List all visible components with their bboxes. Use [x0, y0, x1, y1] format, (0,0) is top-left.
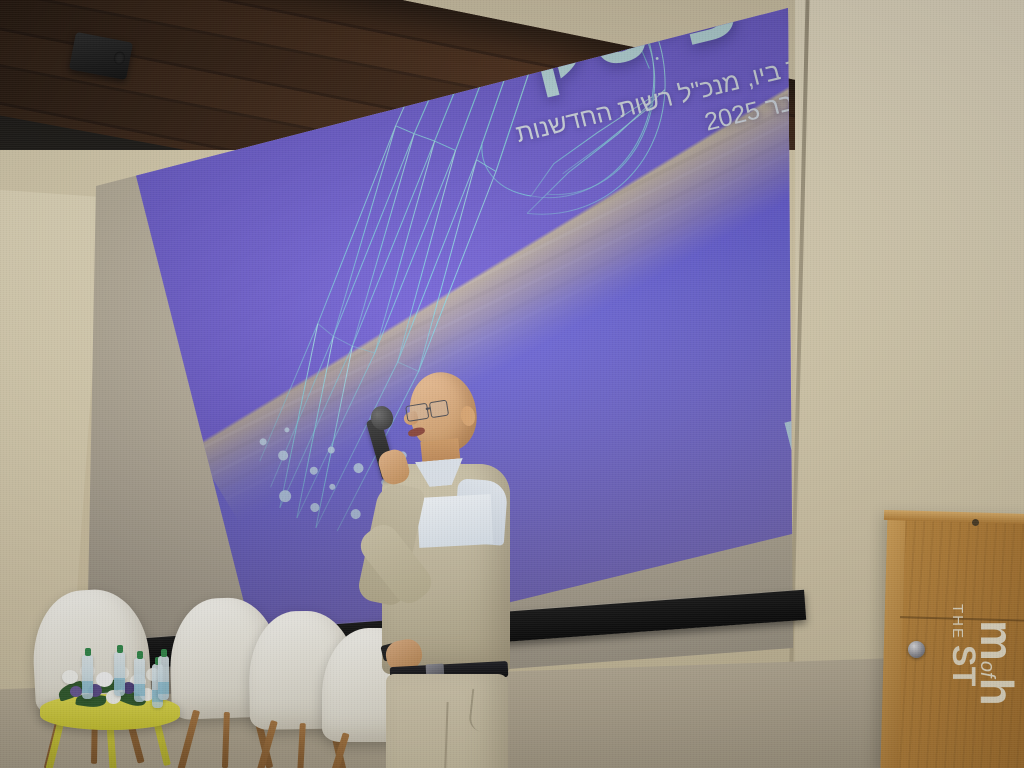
trouser-pocket	[468, 689, 500, 734]
podium-sign-h: h	[971, 678, 1023, 706]
podium-sign-m: m	[971, 620, 1023, 661]
bouquet-flower	[62, 670, 78, 684]
glasses-lens-left	[405, 403, 429, 422]
shirt-chest-panel	[417, 494, 494, 548]
conference-hall-photo: רשות החדשנות Israel Innovation Authority…	[0, 0, 1024, 768]
list-item	[82, 655, 93, 699]
bouquet-flower-accent	[70, 686, 82, 697]
podium-screw	[972, 519, 979, 526]
podium-sign-of: of	[976, 661, 998, 678]
list-item	[158, 656, 169, 700]
list-item	[134, 658, 145, 702]
podium-sign-line2: mofh	[950, 620, 1020, 768]
speaker-person	[360, 372, 540, 768]
glasses-lens-right	[429, 400, 449, 419]
list-item	[114, 652, 125, 696]
